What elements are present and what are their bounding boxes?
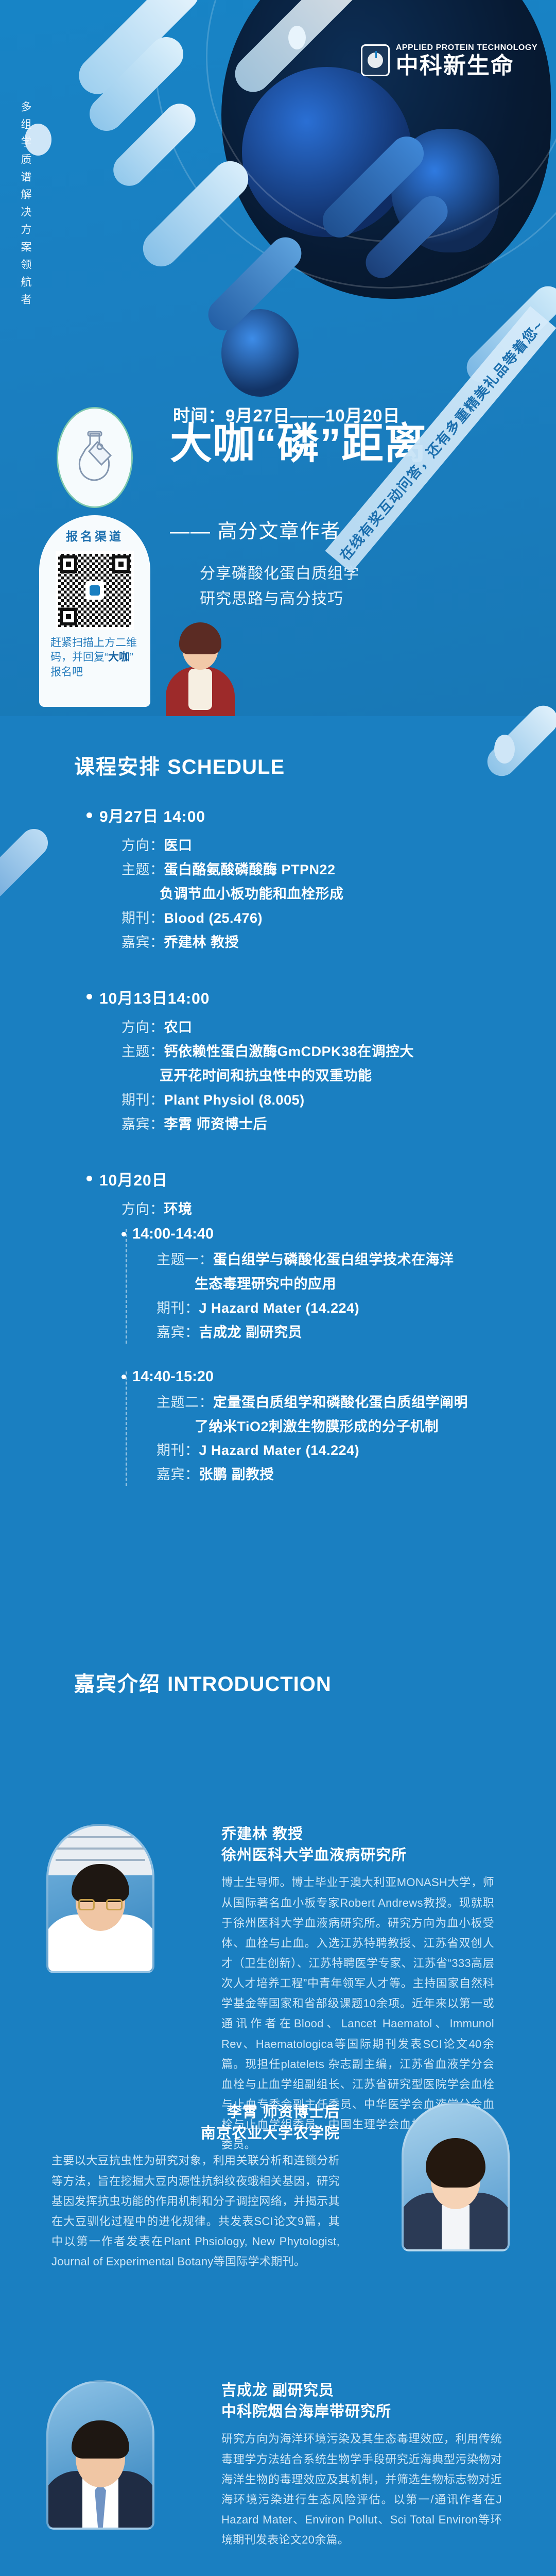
- session-journal-1: 期刊：J Hazard Mater (14.224): [157, 1296, 498, 1320]
- schedule-direction-1: 方向：医口: [121, 834, 498, 858]
- qr-note-keyword: 大咖: [108, 651, 130, 663]
- schedule-direction-2: 方向：农口: [121, 1015, 498, 1040]
- bullet-dot-icon: [86, 812, 92, 818]
- guest-photo-3: [46, 2380, 154, 2530]
- session-guest-1: 嘉宾：吉成龙 副研究员: [157, 1320, 498, 1345]
- session-guest-2: 嘉宾：张鹏 副教授: [157, 1463, 498, 1487]
- guest-affiliation-2: 南京农业大学农学院: [51, 2123, 340, 2144]
- schedule-title: 课程安排 SCHEDULE: [74, 750, 285, 780]
- bullet-dot-icon: [86, 994, 92, 999]
- schedule-session-2: 14:40-15:20 主题二：定量蛋白质组学和磷酸化蛋白质组学阐明 了纳米Ti…: [121, 1368, 498, 1487]
- schedule-title-cn: 课程安排: [74, 756, 167, 778]
- qr-code-image[interactable]: [56, 551, 134, 630]
- bullet-dot-icon: [86, 1176, 92, 1181]
- schedule-date-text-2: 10月13日14:00: [99, 986, 210, 1008]
- bullet-dot-icon: [121, 1375, 126, 1379]
- schedule-date-text-3: 10月20日: [99, 1167, 168, 1190]
- introduction-title-en: INTRODUCTION: [167, 1673, 332, 1696]
- registration-label: 报名渠道: [66, 527, 124, 544]
- schedule-topic-2: 主题：钙依赖性蛋白激酶GmCDPK38在调控大 豆开花时间和抗虫性中的双重功能: [121, 1040, 498, 1088]
- introduction-title: 嘉宾介绍 INTRODUCTION: [74, 1667, 332, 1697]
- guest-photo-2: [402, 2102, 510, 2251]
- hero-section: APPLIED PROTEIN TECHNOLOGY 中科新生命 多组学质谱解决…: [0, 0, 556, 716]
- schedule-guest-1: 嘉宾：乔建林 教授: [121, 930, 498, 955]
- guest-affiliation-1: 徐州医科大学血液病研究所: [221, 1845, 494, 1866]
- qr-instruction-text: 赶紧扫描上方二维码，并回复“大咖”报名吧: [50, 636, 139, 680]
- hero-subtitle: —— 高分文章作者: [170, 515, 341, 544]
- hero-desc-line-1: 分享磷酸化蛋白质组学: [200, 562, 359, 587]
- hero-title: 大咖“磷”距离: [170, 420, 427, 468]
- guest-bio-3: 研究方向为海洋环境污染及其生态毒理效应，利用传统毒理学方法结合系统生物学手段研究…: [221, 2429, 502, 2550]
- schedule-date-2: 10月13日14:00: [86, 986, 498, 1008]
- guest-bio-2: 主要以大豆抗虫性为研究对象，利用关联分析和连锁分析等方法，旨在挖掘大豆内源性抗斜…: [51, 2150, 340, 2272]
- vertical-slogan: 多组学质谱解决方案领航者: [18, 101, 33, 311]
- logo-chinese-name: 中科新生命: [396, 55, 537, 77]
- logo-english-name: APPLIED PROTEIN TECHNOLOGY: [396, 43, 537, 53]
- schedule-journal-1: 期刊：Blood (25.476): [121, 906, 498, 930]
- schedule-item-3: 10月20日 方向：环境 14:00-14:40 主题一：蛋白组学与磷酸化: [86, 1167, 498, 1487]
- schedule-date-text-1: 9月27日 14:00: [99, 804, 205, 826]
- schedule-session-1: 14:00-14:40 主题一：蛋白组学与磷酸化蛋白组学技术在海洋 生态毒理研究…: [121, 1226, 498, 1345]
- schedule-title-en: SCHEDULE: [167, 756, 285, 778]
- schedule-journal-2: 期刊：Plant Physiol (8.005): [121, 1088, 498, 1112]
- schedule-topic-1: 主题：蛋白酪氨酸磷酸酶 PTPN22 负调节血小板功能和血栓形成: [121, 858, 498, 906]
- registration-qr-card[interactable]: 报名渠道 赶紧扫描上方二维码，并回复“大咖”报名吧: [39, 515, 150, 707]
- bullet-dot-icon: [121, 1232, 126, 1236]
- schedule-list: 9月27日 14:00 方向：医口 主题：蛋白酪氨酸磷酸酶 PTPN22 负调节…: [86, 804, 498, 1492]
- session-time-1: 14:00-14:40: [121, 1226, 498, 1243]
- session-journal-2: 期刊：J Hazard Mater (14.224): [157, 1438, 498, 1463]
- poster-page: APPLIED PROTEIN TECHNOLOGY 中科新生命 多组学质谱解决…: [0, 0, 556, 2576]
- hero-description: 分享磷酸化蛋白质组学 研究思路与高分技巧: [200, 562, 359, 612]
- session-topic-2: 主题二：定量蛋白质组学和磷酸化蛋白质组学阐明 了纳米TiO2刺激生物膜形成的分子…: [157, 1391, 498, 1439]
- introduction-title-cn: 嘉宾介绍: [74, 1673, 167, 1696]
- logo-mark-icon: [361, 44, 390, 76]
- session-time-2: 14:40-15:20: [121, 1368, 498, 1385]
- introduction-section: 嘉宾介绍 INTRODUCTION 乔建林 教授 徐州医科大学血液病研究所 博士…: [0, 1638, 556, 2576]
- schedule-guest-2: 嘉宾：李霄 师资博士后: [121, 1112, 498, 1137]
- guest-photo-1: [46, 1824, 154, 1973]
- schedule-item-1: 9月27日 14:00 方向：医口 主题：蛋白酪氨酸磷酸酶 PTPN22 负调节…: [86, 804, 498, 955]
- brand-logo: APPLIED PROTEIN TECHNOLOGY 中科新生命: [361, 43, 537, 77]
- schedule-section: 课程安排 SCHEDULE 9月27日 14:00 方向：医口 主题：蛋白酪氨酸…: [0, 716, 556, 1638]
- guest-name-2: 李霄 师资博士后: [51, 2102, 340, 2123]
- schedule-item-2: 10月13日14:00 方向：农口 主题：钙依赖性蛋白激酶GmCDPK38在调控…: [86, 986, 498, 1137]
- flask-badge-icon: [57, 407, 133, 508]
- schedule-direction-3: 方向：环境: [121, 1197, 498, 1222]
- schedule-date-1: 9月27日 14:00: [86, 804, 498, 826]
- guest-name-3: 吉成龙 副研究员: [221, 2380, 502, 2401]
- guest-name-1: 乔建林 教授: [221, 1824, 494, 1845]
- hero-person-illustration: [162, 621, 239, 716]
- session-topic-1: 主题一：蛋白组学与磷酸化蛋白组学技术在海洋 生态毒理研究中的应用: [157, 1248, 498, 1296]
- hero-desc-line-2: 研究思路与高分技巧: [200, 587, 359, 612]
- guest-affiliation-3: 中科院烟台海岸带研究所: [221, 2401, 502, 2422]
- schedule-date-3: 10月20日: [86, 1167, 498, 1190]
